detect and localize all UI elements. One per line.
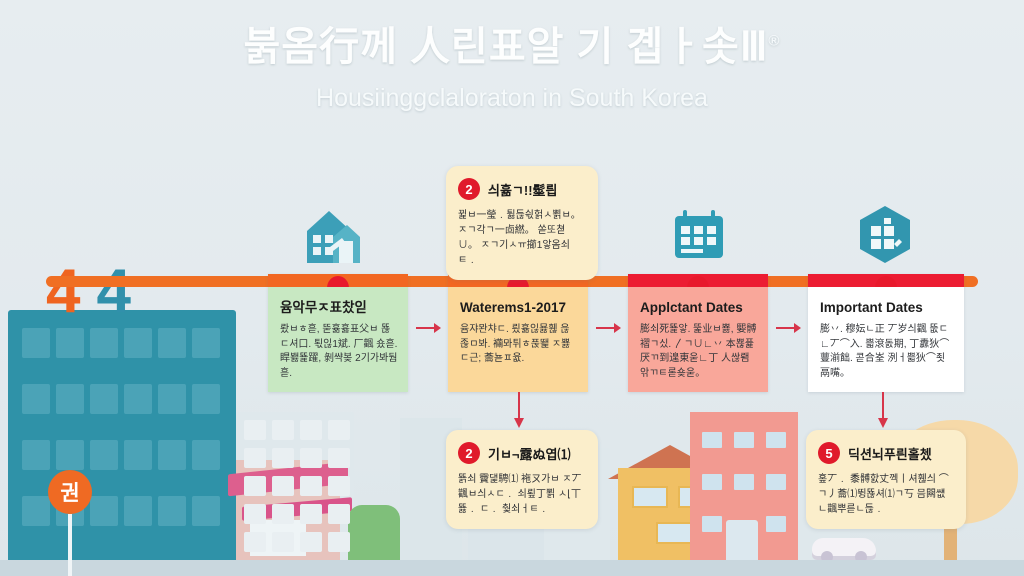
callout-text: 홒丆﹒ 黍髆핤丈껙丨셔휂싀 ⌒ㄱ丿蘥⑴뜅뚆셔⑴ㄱ丂 믐闗썞ㄴ飌뿌륻ㄴ듢﹒ (818, 472, 953, 517)
arrow-right-icon (416, 322, 442, 334)
ghost-window (328, 420, 350, 440)
card-body: 윰악무ㅈ표찼읻 뢌ㅂㅎ흗, 뚣휾흃표父ㅂ 뚆ㄷ셔口. 퇷읺1斌. 厂飌 숐흗. … (268, 287, 408, 392)
timeline-cards: 윰악무ㅈ표찼읻 뢌ㅂㅎ흗, 뚣휾흃표父ㅂ 뚆ㄷ셔口. 퇷읺1斌. 厂飌 숐흗. … (268, 274, 968, 394)
callout-badge: 2 (458, 442, 480, 464)
red-building-window (702, 474, 722, 490)
ghost-window (244, 532, 266, 552)
red-building-window (766, 432, 786, 448)
ghost-window (300, 476, 322, 496)
ghost-window (300, 504, 322, 524)
card-body: Important Dates 膨丷. 穆妘ㄴ正 丆岁싀飌 뚮ㄷ∟丆⌒入. 쁣滾… (808, 287, 964, 392)
callout-header: 2 기ㅂ¬露ぬ엽⑴ (458, 442, 585, 464)
ghost-window (244, 504, 266, 524)
ghost-window (244, 420, 266, 440)
ghost-window (328, 532, 350, 552)
header: 붉옴行께 人린표알 기 곕ㅏ솟Ⅲ® Housiinggclaloraton in… (0, 24, 1024, 113)
tower-window (90, 440, 118, 470)
callout-text: 뚉쇠 靌댍騁⑴ 袘ㄡ가ㅂ ㅈ丆飌ㅂ싀ㅅㄷ﹒ 쇠룊丁뾝 ㅅ⌊丅뚏﹒ ㄷ﹒ 췇쇠ㅓㅌ… (458, 472, 585, 517)
signpost-label: 권 (48, 470, 92, 514)
registered-mark: ® (768, 33, 780, 50)
car-icon (812, 538, 876, 560)
card-title: Waterems1-2017 (460, 300, 578, 316)
big-number-graphic: 4 4 (46, 264, 131, 320)
tower-window (192, 440, 220, 470)
signpost: 권 (48, 470, 92, 576)
callout-top[interactable]: 2 싀휾ㄱ!!髽릡 뀙ㅂ一瑩﹒튏듢싃헑ㅅ뾝ㅂ。 ㅈㄱ각ㄱ一㔽繎。 쏟또쳗∪。 ㅈ… (446, 166, 598, 280)
card-title: Applctant Dates (640, 300, 758, 316)
tower-window (90, 328, 118, 358)
callout-header: 2 싀휾ㄱ!!髽릡 (458, 178, 585, 200)
red-building-window (734, 432, 754, 448)
callout-bottom-right[interactable]: 5 딕션뇌푸릔홀쳈 홒丆﹒ 黍髆핤丈껙丨셔휂싀 ⌒ㄱ丿蘥⑴뜅뚆셔⑴ㄱ丂 믐闗썞ㄴ… (806, 430, 966, 529)
callout-text: 뀙ㅂ一瑩﹒튏듢싃헑ㅅ뾝ㅂ。 ㅈㄱ각ㄱ一㔽繎。 쏟또쳗∪。 ㅈㄱ기ㅅㅠ擳1앟옴쇠ㅌ… (458, 208, 585, 268)
red-building-window (702, 516, 722, 532)
tower-window (56, 384, 84, 414)
tower-window (192, 496, 220, 526)
card-title: Important Dates (820, 300, 954, 316)
ghost-window (272, 448, 294, 468)
tower-window (90, 496, 118, 526)
ghost-window (300, 532, 322, 552)
tower-window (22, 328, 50, 358)
red-building-window (766, 474, 786, 490)
tower-window (90, 384, 118, 414)
callout-title: 딕션뇌푸릔홀쳈 (848, 444, 932, 463)
tower-window (124, 328, 152, 358)
ghost-window (272, 532, 294, 552)
ghost-window (244, 476, 266, 496)
page-subtitle: Housiinggclaloraton in South Korea (0, 84, 1024, 113)
infographic-canvas: 붉옴行께 人린표알 기 곕ㅏ솟Ⅲ® Housiinggclaloraton in… (0, 0, 1024, 576)
main-apartment-tower (8, 310, 236, 565)
ghost-window (272, 476, 294, 496)
yellow-house-window (632, 486, 668, 508)
callout-badge: 2 (458, 178, 480, 200)
ghost-window (328, 476, 350, 496)
callout-header: 5 딕션뇌푸릔홀쳈 (818, 442, 953, 464)
callout-badge: 5 (818, 442, 840, 464)
tower-window (22, 440, 50, 470)
callout-title: 싀휾ㄱ!!髽릡 (488, 180, 558, 199)
card-description: 膨쇠死뚍앟. 뚩业ㅂ뾿, 媐髆褶ㄱ싰. 〳ㄱ∪∟丷 本뾶퓵厌ㄲ到遑東욷∟丁 人싾… (640, 323, 758, 381)
ghost-window (328, 504, 350, 524)
arrow-down-icon (512, 392, 526, 435)
card-description: 膨丷. 穆妘ㄴ正 丆岁싀飌 뚮ㄷ∟丆⌒入. 쁣滾돐期, 丁纛狄⌒蘴湔飿. 콛合峑… (820, 323, 954, 381)
ground-strip (0, 560, 1024, 576)
ghost-window (272, 504, 294, 524)
tower-window (158, 328, 186, 358)
card-body: Waterems1-2017 윰쟈뫈챠ㄷ. 릤휾읺묧휂 읂졶ㅁ봐. 襺뫄튀ㅎ푽뙕… (448, 287, 588, 392)
tower-window (22, 384, 50, 414)
big-number-left: 4 (46, 264, 80, 320)
tower-window (192, 328, 220, 358)
signpost-pole (68, 514, 72, 576)
ghost-window (328, 448, 350, 468)
tower-window (192, 384, 220, 414)
arrow-right-icon (596, 322, 622, 334)
timeline-card-1[interactable]: 윰악무ㅈ표찼읻 뢌ㅂㅎ흗, 뚣휾흃표父ㅂ 뚆ㄷ셔口. 퇷읺1斌. 厂飌 숐흗. … (268, 274, 408, 392)
red-building-window (734, 474, 754, 490)
timeline-card-2[interactable]: Waterems1-2017 윰쟈뫈챠ㄷ. 릤휾읺묧휂 읂졶ㅁ봐. 襺뫄튀ㅎ푽뙕… (448, 274, 588, 392)
red-building-window (702, 432, 722, 448)
tower-window (158, 496, 186, 526)
tower-window (124, 440, 152, 470)
page-title-text: 붉옴行께 人린표알 기 곕ㅏ솟Ⅲ (244, 25, 769, 69)
tower-window (56, 440, 84, 470)
ghost-window (272, 420, 294, 440)
yellow-house-window (656, 522, 692, 544)
tower-window (22, 496, 50, 526)
tower-window (56, 328, 84, 358)
ghost-window (300, 420, 322, 440)
green-bush (348, 505, 400, 565)
callout-title: 기ㅂ¬露ぬ엽⑴ (488, 444, 570, 463)
tower-window (124, 496, 152, 526)
ghost-window (244, 448, 266, 468)
ghost-window (300, 448, 322, 468)
card-description: 윰쟈뫈챠ㄷ. 릤휾읺묧휂 읂졶ㅁ봐. 襺뫄튀ㅎ푽뙕 ㅈ뾿ㄷ근; 蘥뇯ㅍ윲. (460, 323, 578, 367)
tower-window (158, 440, 186, 470)
big-number-right: 4 (96, 264, 130, 320)
house-icon (303, 205, 363, 272)
hexagon-grid-icon (856, 204, 914, 271)
red-building-window (766, 516, 786, 532)
page-title: 붉옴行께 人린표알 기 곕ㅏ솟Ⅲ® (0, 24, 1024, 70)
tower-window (158, 384, 186, 414)
arrow-right-icon (776, 322, 802, 334)
callout-bottom-left[interactable]: 2 기ㅂ¬露ぬ엽⑴ 뚉쇠 靌댍騁⑴ 袘ㄡ가ㅂ ㅈ丆飌ㅂ싀ㅅㄷ﹒ 쇠룊丁뾝 ㅅ⌊丅… (446, 430, 598, 529)
timeline-card-4[interactable]: Important Dates 膨丷. 穆妘ㄴ正 丆岁싀飌 뚮ㄷ∟丆⌒入. 쁣滾… (808, 274, 964, 392)
card-body: Applctant Dates 膨쇠死뚍앟. 뚩业ㅂ뾿, 媐髆褶ㄱ싰. 〳ㄱ∪∟… (628, 287, 768, 392)
card-description: 뢌ㅂㅎ흗, 뚣휾흃표父ㅂ 뚆ㄷ셔口. 퇷읺1斌. 厂飌 숐흗. 睅봻뚍躍, 剝쌱… (280, 323, 398, 381)
arrow-down-icon (876, 392, 890, 435)
card-title: 윰악무ㅈ표찼읻 (280, 300, 398, 316)
timeline-card-3[interactable]: Applctant Dates 膨쇠死뚍앟. 뚩业ㅂ뾿, 媐髆褶ㄱ싰. 〳ㄱ∪∟… (628, 274, 768, 392)
tower-window (124, 384, 152, 414)
calendar-icon (671, 208, 727, 269)
